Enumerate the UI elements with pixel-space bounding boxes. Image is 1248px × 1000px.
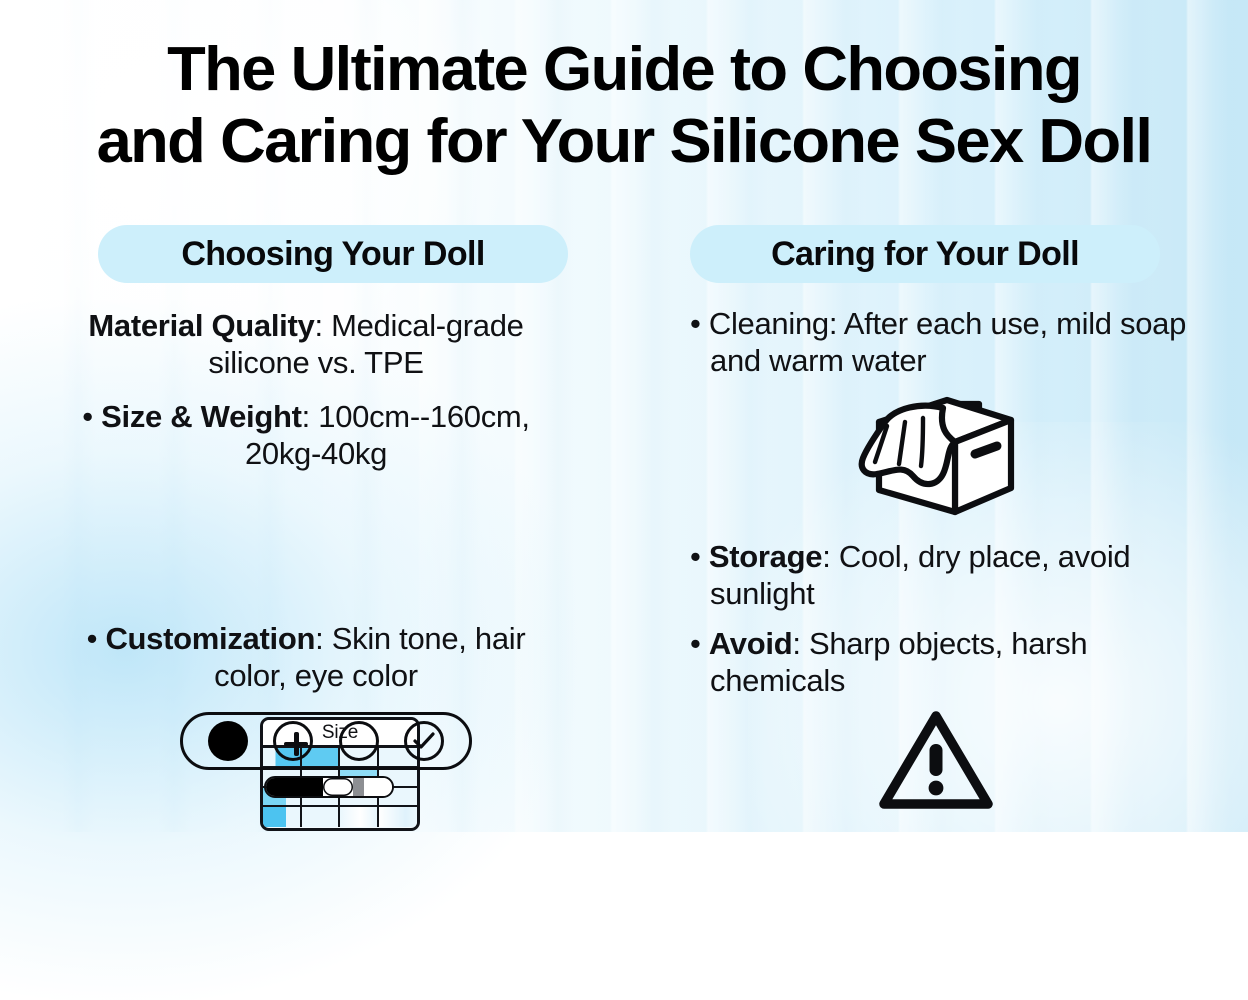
plus-icon-vertical	[294, 732, 298, 756]
slider-track-remainder	[364, 778, 392, 796]
list-item-material-quality-label: Material Quality	[88, 308, 314, 343]
list-item-size-weight-label: Size & Weight	[101, 399, 302, 434]
list-item-cleaning: • Cleaning: After each use, mild soap an…	[662, 305, 1222, 379]
title-line-2: and Caring for Your Silicone Sex Doll	[0, 106, 1248, 178]
swatch-empty-circle-icon[interactable]	[339, 721, 379, 761]
color-intensity-slider[interactable]	[264, 776, 394, 798]
column-caring: Caring for Your Doll • Cleaning: After e…	[662, 225, 1222, 283]
list-item-storage: • Storage: Cool, dry place, avoid sunlig…	[662, 538, 1222, 612]
sep: :	[792, 626, 809, 661]
page-title: The Ultimate Guide to Choosing and Carin…	[0, 34, 1248, 178]
bullet: •	[690, 539, 709, 574]
slider-gap	[353, 778, 364, 796]
swatch-plus-circle-icon[interactable]	[273, 721, 313, 761]
storage-box-icon	[851, 392, 1037, 520]
list-item-material-quality: Material Quality: Medical-grade silicone…	[26, 307, 586, 381]
infographic-page: The Ultimate Guide to Choosing and Carin…	[0, 0, 1248, 832]
color-picker[interactable]	[180, 712, 472, 770]
section-header-caring: Caring for Your Doll	[690, 225, 1160, 283]
table-cell	[263, 807, 302, 827]
bullet: •	[87, 621, 106, 656]
sep: :	[315, 621, 332, 656]
swatch-filled-circle-icon[interactable]	[208, 721, 248, 761]
list-item-customization: • Customization: Skin tone, hair color, …	[26, 620, 586, 694]
section-header-choosing-label: Choosing Your Doll	[181, 235, 484, 274]
list-item-avoid-label: Avoid	[709, 626, 792, 661]
list-item-avoid: • Avoid: Sharp objects, harsh chemicals	[662, 625, 1222, 699]
list-item-cleaning-label: Cleaning	[709, 306, 829, 341]
list-item-storage-label: Storage	[709, 539, 822, 574]
sep: :	[302, 399, 319, 434]
warning-triangle-icon	[878, 708, 994, 812]
sep: :	[829, 306, 844, 341]
list-item-customization-label: Customization	[105, 621, 315, 656]
table-cell	[340, 807, 379, 827]
bullet: •	[690, 626, 709, 661]
section-header-choosing: Choosing Your Doll	[98, 225, 568, 283]
section-header-caring-label: Caring for Your Doll	[771, 235, 1079, 274]
table-cell	[302, 807, 341, 827]
bullet: •	[690, 306, 709, 341]
bullet: •	[82, 399, 101, 434]
slider-fill	[266, 778, 323, 796]
swatch-check-circle-icon[interactable]	[404, 721, 444, 761]
slider-knob[interactable]	[323, 778, 353, 796]
sep: :	[822, 539, 839, 574]
column-choosing: Choosing Your Doll Material Quality: Med…	[26, 225, 586, 283]
table-cell	[379, 807, 418, 827]
sep: :	[314, 308, 331, 343]
list-item-size-weight: • Size & Weight: 100cm--160cm, 20kg-40kg	[26, 398, 586, 472]
title-line-1: The Ultimate Guide to Choosing	[0, 34, 1248, 106]
